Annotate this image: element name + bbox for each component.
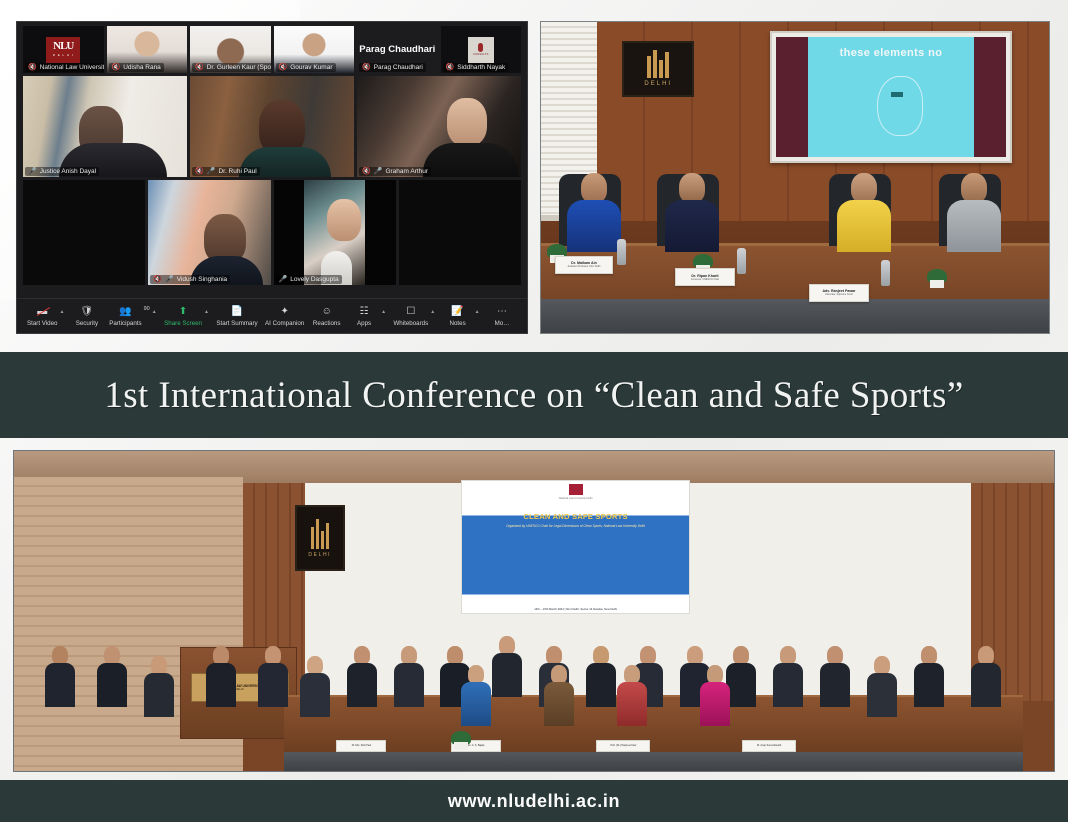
chevron-up-icon[interactable]: ▲ bbox=[152, 309, 157, 315]
backdrop-line-2: CLEAN AND SAFE SPORTS bbox=[523, 512, 627, 522]
chevron-up-icon[interactable]: ▲ bbox=[204, 309, 209, 315]
person-body bbox=[45, 663, 75, 707]
person-head bbox=[327, 199, 361, 241]
participant-tile[interactable]: 🔇 Dr. Gurleen Kaur (Spot… bbox=[190, 26, 271, 73]
person-head bbox=[851, 173, 877, 203]
empty-tile bbox=[23, 180, 145, 285]
participant-name: Gourav Kumar bbox=[290, 64, 332, 71]
group-person bbox=[97, 646, 127, 707]
participant-name-badge: 🔇 National Law Universit… bbox=[25, 63, 104, 72]
toolbar-participants-button[interactable]: 👥 Participants bbox=[109, 306, 141, 327]
water-bottle bbox=[737, 248, 746, 274]
participant-name-badge: 🔇 🎤 Vidush Singhania bbox=[150, 275, 230, 284]
empty-tile bbox=[399, 180, 521, 285]
conference-title-banner: 1st International Conference on “Clean a… bbox=[0, 352, 1068, 438]
group-person bbox=[492, 636, 522, 697]
group-person bbox=[971, 646, 1001, 707]
toolbar-label: Share Screen bbox=[164, 320, 202, 327]
group-person-front bbox=[617, 665, 647, 726]
person-body bbox=[423, 143, 518, 177]
nlu-logo-icon bbox=[569, 484, 583, 495]
backdrop-logo-caption: National Law University Delhi bbox=[559, 497, 593, 500]
person-body bbox=[144, 673, 174, 717]
participant-tile[interactable]: 🔇 🎤 Vidush Singhania bbox=[148, 180, 270, 285]
mic-muted-icon: 🔇 bbox=[112, 64, 121, 71]
mic-muted-icon: 🔇 bbox=[279, 64, 288, 71]
nameplate-text: Dr. Anup Surendranath bbox=[757, 744, 781, 747]
participant-name-badge: 🔇 Gourav Kumar bbox=[276, 63, 336, 72]
table-front-panel bbox=[284, 752, 1022, 771]
face-mouth-graphic bbox=[891, 92, 903, 97]
toolbar-security-button[interactable]: 🛡 Security bbox=[72, 306, 102, 327]
panel-nameplate: Dr. Ripan Kharit Convenor, UNESCO Chair bbox=[675, 268, 735, 286]
plaque-text: DELHI bbox=[308, 552, 331, 558]
toolbar-group: ✦ AI Companion bbox=[265, 306, 304, 327]
toolbar-group: ☐ Whiteboards ▲ bbox=[393, 306, 435, 327]
group-person-front bbox=[461, 665, 491, 726]
toolbar-group: ☷ Apps ▲ bbox=[349, 306, 386, 327]
toolbar-ai-companion-button[interactable]: ✦ AI Companion bbox=[265, 306, 304, 327]
participant-name: Lovely Dasgupta bbox=[290, 276, 338, 283]
group-person bbox=[914, 646, 944, 707]
participant-name: Dr. Ruhi Paul bbox=[218, 168, 256, 175]
group-person bbox=[394, 646, 424, 707]
toolbar-label: Apps bbox=[357, 320, 371, 327]
mic-on-icon: 🎤 bbox=[374, 168, 383, 175]
person-body bbox=[492, 653, 522, 697]
nlu-logo-sub: D E L H I bbox=[53, 53, 74, 57]
person-body bbox=[971, 663, 1001, 707]
mic-on-icon: 🎤 bbox=[28, 168, 37, 175]
nlu-emblem-icon bbox=[311, 519, 329, 549]
projector-screen: these elements no bbox=[770, 31, 1013, 163]
nameplate-role: Assistant Professor, NLU Delhi bbox=[568, 265, 601, 268]
person-body bbox=[461, 682, 491, 726]
table-plant bbox=[693, 254, 713, 268]
group-person bbox=[726, 646, 756, 707]
participants-icon: 👥 bbox=[119, 306, 131, 318]
mic-muted-icon: 🔇 bbox=[362, 64, 371, 71]
group-photo: DELHI National Law University Delhi INTE… bbox=[13, 450, 1055, 772]
person-body bbox=[867, 673, 897, 717]
toolbar-label: Notes bbox=[450, 320, 466, 327]
participant-name: Siddharth Nayak bbox=[457, 64, 505, 71]
participants-count: 90 bbox=[144, 306, 150, 312]
toolbar-label: Start Summary bbox=[216, 320, 257, 327]
toolbar-label: Reactions bbox=[313, 320, 341, 327]
backdrop-line-3: Organised by UNESCO Chair for Legal Dime… bbox=[502, 524, 649, 528]
panelist bbox=[837, 173, 891, 252]
toolbar-group: 🛡 Security bbox=[72, 306, 102, 327]
nameplate-text: Prof. (Dr.) Harpreet Kaur bbox=[610, 744, 636, 747]
toolbar-group: ⋯ Mo… bbox=[487, 306, 517, 327]
toolbar-label: Start Video bbox=[27, 320, 58, 327]
video-off-icon: ▬ bbox=[37, 306, 47, 318]
group-person bbox=[820, 646, 850, 707]
participant-video bbox=[148, 180, 270, 285]
zoom-participant-grid: NLU D E L H I 🔇 National Law Universit… … bbox=[17, 22, 527, 298]
person-head bbox=[961, 173, 987, 203]
toolbar-share-screen-button[interactable]: ⬆ Share Screen bbox=[164, 306, 202, 327]
person-body bbox=[947, 200, 1001, 252]
participant-tile[interactable]: Parag Chaudhari 🔇 Parag Chaudhari bbox=[357, 26, 438, 73]
person-body bbox=[300, 673, 330, 717]
participant-name: Udisha Rana bbox=[123, 64, 161, 71]
participant-video bbox=[357, 76, 521, 177]
mic-muted-icon: 🔇 bbox=[153, 276, 162, 283]
toolbar-group: ▬ Start Video ▲ bbox=[27, 306, 64, 327]
group-person bbox=[206, 646, 236, 707]
person-body bbox=[820, 663, 850, 707]
participant-name: Graham Arthur bbox=[385, 168, 428, 175]
group-person bbox=[45, 646, 75, 707]
toolbar-group: 👥 Participants 90 ▲ bbox=[109, 306, 156, 327]
participant-tile[interactable]: NLU D E L H I 🔇 National Law Universit… bbox=[23, 26, 104, 73]
chevron-up-icon[interactable]: ▲ bbox=[430, 309, 435, 315]
mic-muted-icon: 🔇 bbox=[362, 168, 371, 175]
table-nameplate: Dr. Anup Surendranath bbox=[742, 740, 796, 752]
group-person-front bbox=[544, 665, 574, 726]
person-body bbox=[700, 682, 730, 726]
mic-on-icon: 🎤 bbox=[279, 276, 288, 283]
person-body bbox=[258, 663, 288, 707]
participant-name: National Law Universit… bbox=[40, 64, 104, 71]
group-person-front bbox=[700, 665, 730, 726]
delhi-wall-plaque: DELHI bbox=[295, 505, 345, 571]
toolbar-start-summary-button[interactable]: 📄 Start Summary bbox=[216, 306, 257, 327]
more-icon: ⋯ bbox=[497, 306, 507, 318]
mic-on-icon: 🎤 bbox=[165, 276, 174, 283]
person-body bbox=[914, 663, 944, 707]
toolbar-reactions-button[interactable]: ☺ Reactions bbox=[312, 306, 342, 327]
group-person bbox=[300, 656, 330, 717]
panel-discussion-photo: DELHI these elements no bbox=[540, 21, 1050, 334]
participant-tile[interactable]: CONSULTS 🔇 Siddharth Nayak bbox=[441, 26, 522, 73]
nlu-logo-icon: NLU D E L H I bbox=[46, 37, 80, 63]
participant-video bbox=[274, 180, 396, 285]
zoom-meeting-screenshot: NLU D E L H I 🔇 National Law Universit… … bbox=[16, 21, 528, 334]
participant-name-badge: 🔇 Siddharth Nayak bbox=[443, 63, 509, 72]
participant-tile[interactable]: 🔇 Udisha Rana bbox=[107, 26, 188, 73]
summary-icon: 📄 bbox=[231, 306, 243, 318]
water-bottle bbox=[617, 239, 626, 265]
toolbar-label: Mo… bbox=[495, 320, 510, 327]
person-body bbox=[206, 663, 236, 707]
participant-tile-active-speaker[interactable]: 🎤 Lovely Dasgupta bbox=[274, 180, 396, 285]
conference-backdrop-banner: National Law University Delhi INTERNATIO… bbox=[461, 480, 690, 614]
projected-slide: these elements no bbox=[776, 37, 1007, 157]
delhi-wall-plaque: DELHI bbox=[622, 41, 694, 97]
shield-icon: 🛡 bbox=[81, 306, 94, 318]
participant-video bbox=[23, 76, 187, 177]
toolbar-label: AI Companion bbox=[265, 320, 304, 327]
zoom-toolbar: ▬ Start Video ▲ 🛡 Security 👥 Participant… bbox=[17, 298, 527, 333]
person-body bbox=[665, 200, 719, 252]
zoom-grid-row: 🔇 🎤 Vidush Singhania 🎤 Lovely D bbox=[23, 180, 521, 285]
panelist bbox=[665, 173, 719, 252]
sparkle-icon: ✦ bbox=[280, 306, 288, 318]
person-body bbox=[394, 663, 424, 707]
toolbar-group: ☺ Reactions bbox=[312, 306, 342, 327]
panel-nameplate: Adv. Ranjeet Pawar Advocate, Supreme Cou… bbox=[809, 284, 869, 302]
nameplate-text: Ms. G. S. Bajwa bbox=[467, 744, 484, 747]
mic-on-icon: 🎤 bbox=[207, 168, 216, 175]
group-person bbox=[258, 646, 288, 707]
zoom-grid-row: 🎤 Justice Anish Dayal 🔇 🎤 Dr. Ruhi Paul bbox=[23, 76, 521, 177]
table-nameplate: Prof. (Dr.) Harpreet Kaur bbox=[596, 740, 650, 752]
podium-sign-line2: DELHI bbox=[235, 688, 243, 691]
person-head bbox=[307, 656, 323, 675]
toolbar-start-video-button[interactable]: ▬ Start Video bbox=[27, 306, 58, 327]
group-person bbox=[586, 646, 616, 707]
chevron-up-icon[interactable]: ▲ bbox=[60, 309, 65, 315]
table-plant bbox=[927, 269, 947, 283]
participant-name: Vidush Singhania bbox=[177, 276, 227, 283]
participant-tile[interactable]: 🔇 🎤 Graham Arthur bbox=[357, 76, 521, 177]
mic-muted-icon: 🔇 bbox=[195, 168, 204, 175]
person-body bbox=[586, 663, 616, 707]
participant-tile[interactable]: 🔇 Gourav Kumar bbox=[274, 26, 355, 73]
notes-icon: 📝 bbox=[451, 306, 463, 318]
person-body bbox=[617, 682, 647, 726]
person-head bbox=[679, 173, 705, 203]
whiteboard-icon: ☐ bbox=[406, 306, 415, 318]
participant-tile[interactable]: 🎤 Justice Anish Dayal bbox=[23, 76, 187, 177]
microphone-logo-icon: CONSULTS bbox=[468, 37, 494, 63]
consults-caption: CONSULTS bbox=[473, 53, 489, 56]
toolbar-label: Security bbox=[76, 320, 98, 327]
page-title: 1st International Conference on “Clean a… bbox=[104, 374, 963, 417]
participant-name-badge: 🔇 Dr. Gurleen Kaur (Spot… bbox=[192, 63, 271, 72]
participant-name: Dr. Gurleen Kaur (Spot… bbox=[207, 64, 271, 71]
group-person bbox=[347, 646, 377, 707]
person-head bbox=[874, 656, 890, 675]
group-person bbox=[867, 656, 897, 717]
participant-name-badge: 🎤 Justice Anish Dayal bbox=[25, 167, 99, 176]
video-inner-frame bbox=[304, 180, 365, 285]
person-head bbox=[581, 173, 607, 203]
reactions-icon: ☺ bbox=[322, 306, 332, 318]
mic-muted-icon: 🔇 bbox=[195, 64, 204, 71]
website-url-link[interactable]: www.nludelhi.ac.in bbox=[448, 791, 620, 812]
zoom-grid-row: NLU D E L H I 🔇 National Law Universit… … bbox=[23, 26, 521, 73]
person-body bbox=[726, 663, 756, 707]
chevron-up-icon[interactable]: ▲ bbox=[381, 309, 386, 315]
toolbar-apps-button[interactable]: ☷ Apps bbox=[349, 306, 379, 327]
dais-base bbox=[541, 299, 1049, 333]
backdrop-line-4: 14th – 15th March 2024 | NLU Delhi, Sect… bbox=[534, 608, 617, 612]
nlu-emblem-icon bbox=[647, 50, 669, 78]
toolbar-more-button[interactable]: ⋯ Mo… bbox=[487, 306, 517, 327]
participant-name-badge: 🔇 🎤 Graham Arthur bbox=[359, 167, 431, 176]
participant-name-badge: 🔇 Parag Chaudhari bbox=[359, 63, 426, 72]
toolbar-group: ⬆ Share Screen ▲ bbox=[164, 306, 209, 327]
apps-icon: ☷ bbox=[360, 306, 369, 318]
plaque-text: DELHI bbox=[644, 81, 672, 87]
face-outline-graphic bbox=[877, 76, 923, 136]
share-screen-icon: ⬆ bbox=[179, 306, 187, 318]
toolbar-label: Whiteboards bbox=[393, 320, 428, 327]
participant-name-badge: 🎤 Lovely Dasgupta bbox=[276, 275, 342, 284]
group-person bbox=[773, 646, 803, 707]
footer-bar: www.nludelhi.ac.in bbox=[0, 780, 1068, 822]
nameplate-role: Convenor, UNESCO Chair bbox=[691, 278, 719, 281]
toolbar-label: Participants bbox=[109, 320, 141, 327]
group-person bbox=[144, 656, 174, 717]
toolbar-notes-button[interactable]: 📝 Notes bbox=[443, 306, 473, 327]
person-body bbox=[773, 663, 803, 707]
participant-name: Justice Anish Dayal bbox=[40, 168, 96, 175]
nlu-logo-mark: NLU bbox=[53, 42, 73, 51]
toolbar-whiteboards-button[interactable]: ☐ Whiteboards bbox=[393, 306, 428, 327]
participant-name: Parag Chaudhari bbox=[374, 64, 423, 71]
panel-nameplate: Dr. Malkam Ain Assistant Professor, NLU … bbox=[555, 256, 613, 274]
person-head bbox=[447, 98, 487, 146]
participant-name-badge: 🔇 🎤 Dr. Ruhi Paul bbox=[192, 167, 260, 176]
table-plant bbox=[451, 731, 471, 745]
person-body bbox=[97, 663, 127, 707]
panelist bbox=[567, 173, 621, 252]
mic-glyph bbox=[478, 43, 483, 52]
person-body bbox=[347, 663, 377, 707]
slide-text: these elements no bbox=[840, 47, 943, 59]
chevron-up-icon[interactable]: ▲ bbox=[475, 309, 480, 315]
water-bottle bbox=[881, 260, 890, 286]
nameplate-text: Dr. Mrs. Ruhi Paul bbox=[352, 744, 371, 747]
participant-video bbox=[190, 76, 354, 177]
person-body bbox=[837, 200, 891, 252]
poster-page: NLU D E L H I 🔇 National Law Universit… … bbox=[0, 0, 1068, 822]
person-head bbox=[151, 656, 167, 675]
nameplate-role: Advocate, Supreme Court bbox=[825, 293, 853, 296]
table-nameplate: Dr. Mrs. Ruhi Paul bbox=[336, 740, 386, 752]
person-body bbox=[567, 200, 621, 252]
participant-name-badge: 🔇 Udisha Rana bbox=[109, 63, 164, 72]
toolbar-group: 📄 Start Summary bbox=[216, 306, 257, 327]
backdrop-line-1: INTERNATIONAL CONFERENCE ON bbox=[511, 503, 640, 512]
mic-muted-icon: 🔇 bbox=[446, 64, 455, 71]
toolbar-group: 📝 Notes ▲ bbox=[443, 306, 480, 327]
participant-tile[interactable]: 🔇 🎤 Dr. Ruhi Paul bbox=[190, 76, 354, 177]
panelist bbox=[947, 173, 1001, 252]
mic-muted-icon: 🔇 bbox=[28, 64, 37, 71]
person-body bbox=[544, 682, 574, 726]
